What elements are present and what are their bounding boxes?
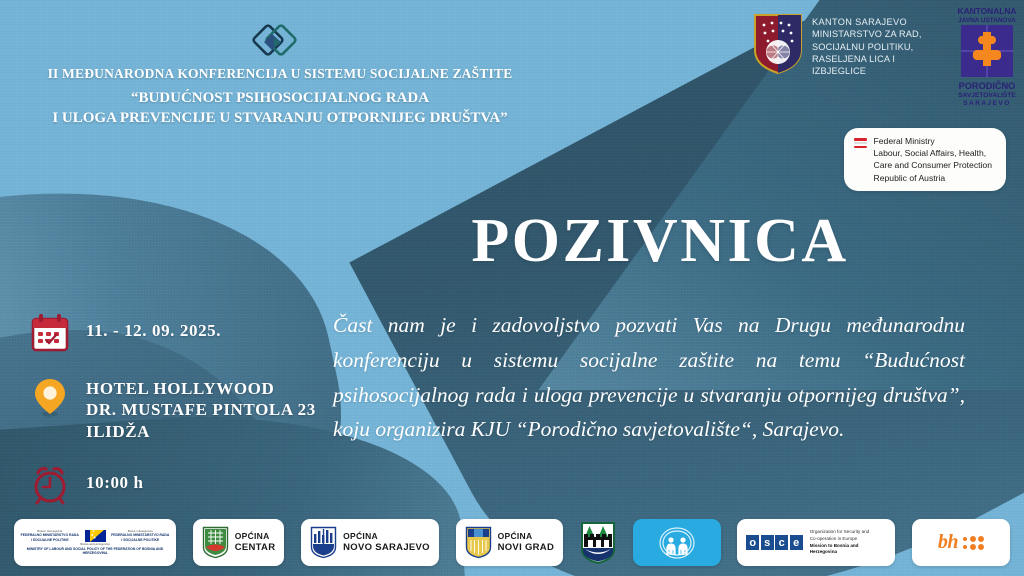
detail-venue-line-2: DR. MUSTAFE PINTOLA 23 (86, 399, 316, 420)
logo-bh-telecom: bh (912, 519, 1010, 566)
osce-logo-icon: o s c e (746, 535, 803, 550)
kju-puzzle-logo-icon: KANTONALNA JAVNA USTANOVA PORODIČNO SAVJ… (956, 4, 1018, 109)
opcina-novi-grad-line-1: OPĆINA (498, 531, 555, 542)
austria-flag-icon (854, 138, 867, 150)
invitation-poster: II MEĐUNARODNA KONFERENCIJA U SISTEMU SO… (0, 0, 1024, 576)
opcina-centar-crest-icon (202, 526, 229, 559)
bh-telecom-wordmark: bh (938, 531, 958, 554)
austria-federal-ministry-logo: Federal Ministry Labour, Social Affairs,… (844, 128, 1006, 191)
diamond-monogram-icon (248, 18, 302, 66)
ks-line-3: SOCIJALNU POLITIKU, (812, 41, 922, 53)
opcina-ilidza-crest-icon (580, 521, 616, 565)
osce-letter-s: s (761, 535, 774, 550)
logo-osce: o s c e Organization for Security and Co… (737, 519, 895, 566)
opcina-centar-line-1: OPĆINA (235, 531, 276, 542)
invitation-body-text: Čast nam je i zadovoljstvo pozvati Vas n… (333, 308, 965, 447)
opcina-novi-grad-line-2: NOVI GRAD (498, 542, 555, 554)
ks-line-2: MINISTARSTVO ZA RAD, (812, 28, 922, 40)
osce-letter-e: e (790, 535, 803, 550)
event-details-block: 11. - 12. 09. 2025. HOTEL HOLLYWOOD DR. … (30, 312, 320, 528)
family-emblem-icon (657, 525, 697, 561)
osce-line-2: Co-operation in Europe (810, 536, 887, 543)
logo-unicef (633, 519, 721, 566)
detail-venue-line-3: ILIDŽA (86, 421, 316, 442)
ks-line-1: KANTON SARAJEVO (812, 16, 922, 28)
svg-text:JAVNA USTANOVA: JAVNA USTANOVA (958, 17, 1016, 24)
kanton-sarajevo-crest-icon (752, 12, 804, 76)
detail-venue-lines: HOTEL HOLLYWOOD DR. MUSTAFE PINTOLA 23 I… (86, 376, 316, 442)
osce-line-3: Mission to Bosnia and Herzegovina (810, 543, 859, 555)
logo-opcina-ilidza (580, 519, 616, 566)
osce-letter-o: o (746, 535, 759, 550)
austria-line-3: Care and Consumer Protection (874, 159, 992, 171)
austria-line-1: Federal Ministry (874, 135, 992, 147)
austria-line-4: Republic of Austria (874, 172, 992, 184)
svg-text:PORODIČNO: PORODIČNO (959, 80, 1016, 91)
opcina-novo-sarajevo-crest-icon (310, 526, 337, 559)
opcina-centar-line-2: CENTAR (235, 542, 276, 554)
osce-description: Organization for Security and Co-operati… (810, 529, 887, 556)
conference-theme-line-1: “BUDUĆNOST PSIHOSOCIJALNOG RADA (0, 89, 560, 109)
opcina-novi-grad-crest-icon (465, 526, 492, 559)
austria-line-2: Labour, Social Affairs, Health, (874, 147, 992, 159)
osce-letter-c: c (775, 535, 788, 550)
austria-ministry-text: Federal Ministry Labour, Social Affairs,… (874, 135, 992, 184)
detail-time-value: 10:00 h (86, 464, 144, 493)
logo-opcina-novi-grad: OPĆINA NOVI GRAD (456, 519, 564, 566)
bh-telecom-dots-icon (962, 536, 984, 550)
svg-text:SARAJEVO: SARAJEVO (963, 100, 1010, 107)
detail-date-value: 11. - 12. 09. 2025. (86, 312, 221, 341)
calendar-icon (30, 312, 70, 354)
logo-opcina-novo-sarajevo: OPĆINA NOVO SARAJEVO (301, 519, 439, 566)
opcina-novo-sarajevo-line-1: OPĆINA (343, 531, 430, 542)
conference-theme-block: “BUDUĆNOST PSIHOSOCIJALNOG RADA I ULOGA … (0, 89, 560, 129)
svg-text:KANTONALNA: KANTONALNA (958, 6, 1017, 16)
fed-en-bold: MINISTRY OF LABOUR AND SOCIAL POLICY OF … (20, 547, 170, 556)
bosnia-herzegovina-flag-icon (85, 530, 106, 542)
opcina-novo-sarajevo-label: OPĆINA NOVO SARAJEVO (343, 531, 430, 554)
conference-theme-line-2: I ULOGA PREVENCIJE U STVARANJU OTPORNIJE… (0, 109, 560, 129)
kanton-sarajevo-ministry-text: KANTON SARAJEVO MINISTARSTVO ZA RAD, SOC… (812, 12, 922, 78)
opcina-novi-grad-label: OPĆINA NOVI GRAD (498, 531, 555, 554)
location-pin-icon (30, 376, 70, 418)
detail-row-time: 10:00 h (30, 464, 320, 506)
footer-logo-strip: Bosna i Hercegovina FEDERALNO MINISTARST… (0, 519, 1024, 566)
logo-opcina-centar: OPĆINA CENTAR (193, 519, 285, 566)
fed-bs-bold-left: FEDERALNO MINISTARSTVO RADA I SOCIJALNE … (20, 533, 80, 542)
ks-line-4: RASELJENA LICA I (812, 53, 922, 65)
detail-row-date: 11. - 12. 09. 2025. (30, 312, 320, 354)
conference-subtitle-line: II MEĐUNARODNA KONFERENCIJA U SISTEMU SO… (0, 66, 560, 82)
opcina-novo-sarajevo-line-2: NOVO SARAJEVO (343, 542, 430, 554)
logo-federalno-ministarstvo: Bosna i Hercegovina FEDERALNO MINISTARST… (14, 519, 176, 566)
ks-line-5: IZBJEGLICE (812, 65, 922, 77)
detail-row-venue: HOTEL HOLLYWOOD DR. MUSTAFE PINTOLA 23 I… (30, 376, 320, 442)
kanton-sarajevo-ministry-logo: KANTON SARAJEVO MINISTARSTVO ZA RAD, SOC… (752, 12, 922, 78)
opcina-centar-label: OPĆINA CENTAR (235, 531, 276, 554)
fed-bs-bold-right: FEDERALNO MINISTARSTVO RADA I SOCIJALNE … (111, 533, 171, 542)
page-title: POZIVNICA (330, 206, 990, 277)
detail-venue-line-1: HOTEL HOLLYWOOD (86, 378, 316, 399)
osce-line-1: Organization for Security and (810, 529, 887, 536)
conference-title-block: II MEĐUNARODNA KONFERENCIJA U SISTEMU SO… (0, 66, 560, 129)
alarm-clock-icon (30, 464, 70, 506)
svg-text:SAVJETOVALIŠTE: SAVJETOVALIŠTE (958, 90, 1016, 99)
